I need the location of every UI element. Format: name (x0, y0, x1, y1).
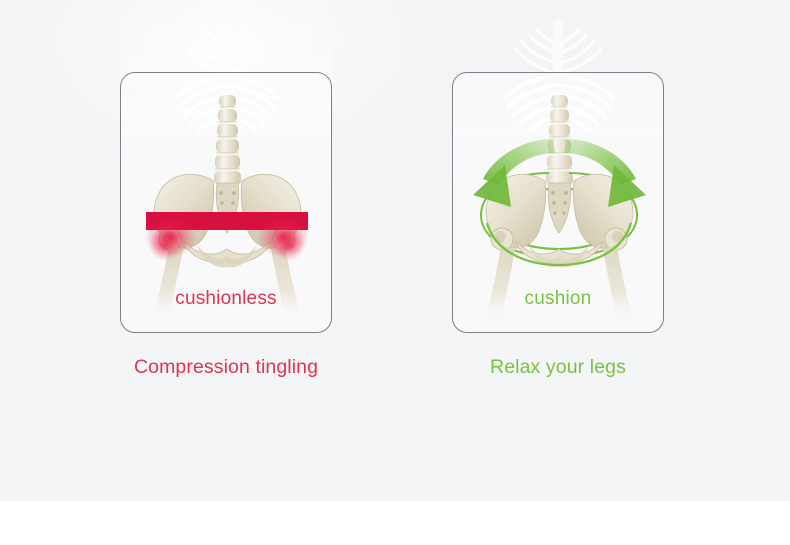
green-relief-arrow-left (473, 139, 555, 207)
panel-cushion: cushion (452, 72, 664, 333)
green-relief-loop (481, 173, 637, 257)
green-relief-arrow-right (564, 139, 646, 207)
caption-compression-tingling: Compression tingling (120, 356, 332, 379)
card-cushion[interactable]: cushion (452, 72, 664, 333)
in-card-label-cushion: cushion (453, 288, 663, 310)
panel-cushionless: cushionless (120, 72, 332, 333)
card-cushionless[interactable]: cushionless (120, 72, 332, 333)
in-card-label-cushionless: cushionless (121, 288, 331, 310)
red-pressure-bar (146, 212, 308, 230)
comparison-figure: cushionless (0, 0, 790, 545)
caption-relax-your-legs: Relax your legs (452, 356, 664, 379)
figure-background-panel (0, 0, 790, 501)
